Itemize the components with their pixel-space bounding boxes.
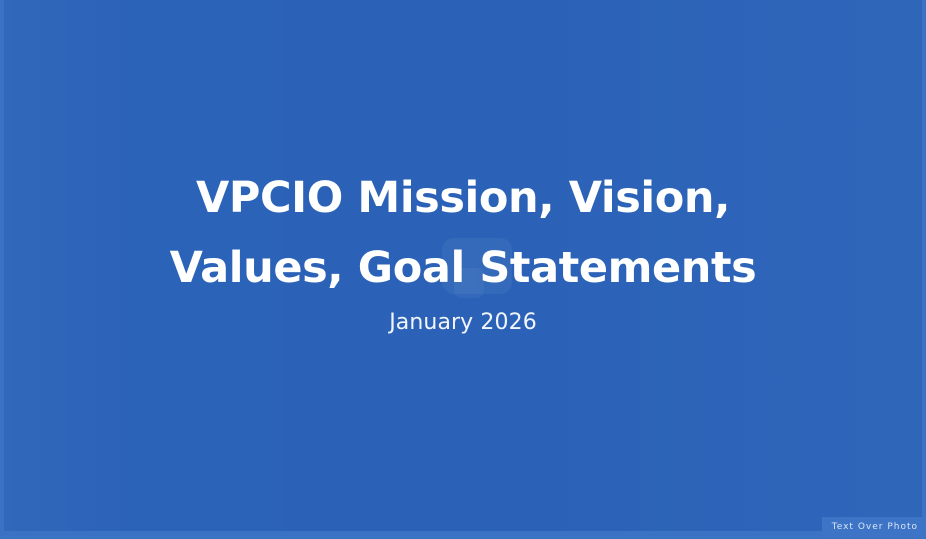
slide-subtitle: January 2026 — [389, 309, 537, 337]
slide-root: VPCIO Mission, Vision, Values, Goal Stat… — [0, 0, 926, 539]
title-text-group: VPCIO Mission, Vision, Values, Goal Stat… — [113, 163, 813, 337]
slide-background-surface: VPCIO Mission, Vision, Values, Goal Stat… — [4, 0, 922, 531]
layout-name-badge[interactable]: Text Over Photo — [822, 517, 926, 538]
slide-title: VPCIO Mission, Vision, Values, Goal Stat… — [113, 163, 813, 303]
bottom-edge-strip — [0, 534, 926, 539]
slide-title-block: VPCIO Mission, Vision, Values, Goal Stat… — [4, 0, 922, 531]
